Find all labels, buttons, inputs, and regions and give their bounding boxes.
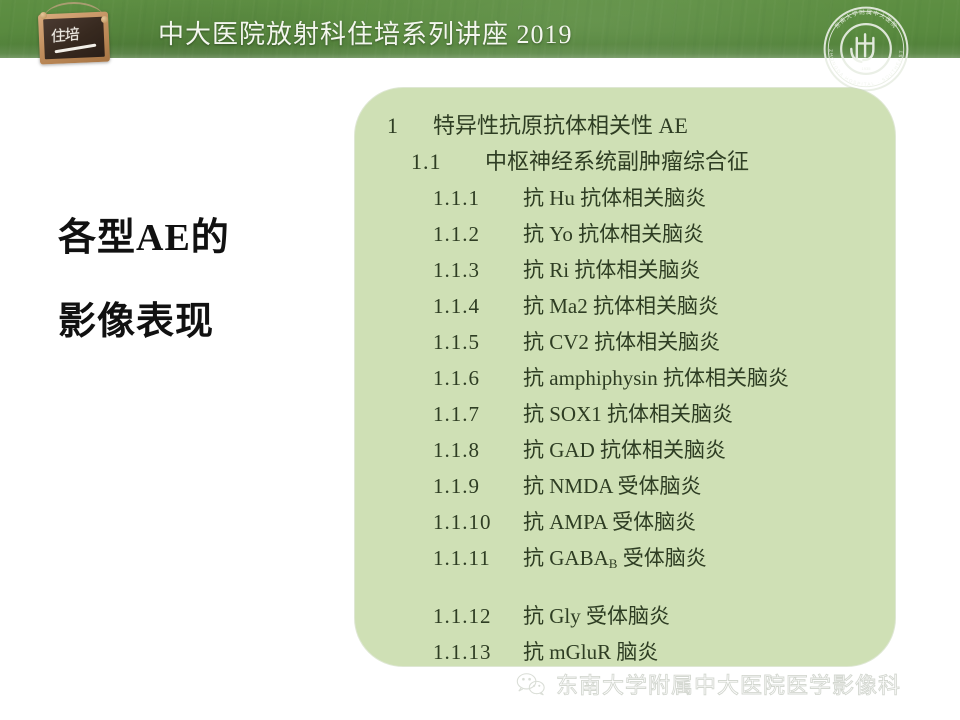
outline-item-label: 抗 Ri 抗体相关脑炎 [523, 252, 700, 288]
outline-item-number: 1.1.9 [433, 468, 523, 504]
outline-item-label: 抗 Yo 抗体相关脑炎 [523, 216, 704, 252]
outline-item: 1.1.9抗 NMDA 受体脑炎 [355, 468, 895, 504]
outline-item: 1特异性抗原抗体相关性 AE [355, 108, 895, 144]
outline-panel: 1特异性抗原抗体相关性 AE1.1中枢神经系统副肿瘤综合征1.1.1抗 Hu 抗… [355, 88, 895, 666]
outline-item: 1.1.8抗 GAD 抗体相关脑炎 [355, 432, 895, 468]
chalkboard-surface: 住培 [43, 17, 105, 60]
outline-item-label: 中枢神经系统副肿瘤综合征 [485, 144, 749, 180]
outline-item-label: 抗 CV2 抗体相关脑炎 [523, 324, 720, 360]
outline-item-label: 抗 GAD 抗体相关脑炎 [523, 432, 726, 468]
outline-item: 1.1.12抗 Gly 受体脑炎 [355, 598, 895, 634]
outline-item-label: 特异性抗原抗体相关性 AE [433, 108, 688, 144]
outline-item: 1.1.4抗 Ma2 抗体相关脑炎 [355, 288, 895, 324]
outline-item: 1.1.13抗 mGluR 脑炎 [355, 634, 895, 666]
chalkboard-frame: 住培 [38, 11, 110, 64]
outline-item-number: 1.1.7 [433, 396, 523, 432]
outline-item-number: 1 [387, 108, 433, 144]
outline-item-label: 抗 Ma2 抗体相关脑炎 [523, 288, 719, 324]
page-title: 各型AE的 影像表现 [58, 196, 338, 364]
outline-item: 1.1.3抗 Ri 抗体相关脑炎 [355, 252, 895, 288]
outline-item-label: 抗 mGluR 脑炎 [523, 634, 658, 666]
chalkboard-nail-right [101, 16, 108, 23]
outline-item-number: 1.1.4 [433, 288, 523, 324]
svg-text:1935: 1935 [862, 66, 872, 71]
outline-item-number: 1.1.5 [433, 324, 523, 360]
outline-item-number: 1.1.3 [433, 252, 523, 288]
outline-item-number: 1.1.10 [433, 504, 523, 540]
outline-item: 1.1.10抗 AMPA 受体脑炎 [355, 504, 895, 540]
outline-item-subscript: B [609, 556, 618, 571]
outline-item-number: 1.1 [411, 144, 485, 180]
watermark-text: 东南大学附属中大医院医学影像科 [556, 668, 901, 700]
outline-item-number: 1.1.13 [433, 634, 523, 666]
outline-item-label: 抗 GABAB 受体脑炎 [523, 540, 707, 582]
outline-item: 1.1.7抗 SOX1 抗体相关脑炎 [355, 396, 895, 432]
slide-canvas: 住培 中大医院放射科住培系列讲座 2019 东南大学附属中大医院 ZHONGDA… [0, 0, 960, 720]
outline-item-label: 抗 Hu 抗体相关脑炎 [523, 180, 706, 216]
chalkboard-script-text: 住培 [51, 23, 79, 47]
outline-item: 1.1.2抗 Yo 抗体相关脑炎 [355, 216, 895, 252]
hospital-seal-logo: 东南大学附属中大医院 ZHONGDA HOSPITAL · SOUTHEAST … [820, 3, 912, 95]
outline-item-number: 1.1.12 [433, 598, 523, 634]
outline-item-number: 1.1.8 [433, 432, 523, 468]
outline-item-number: 1.1.6 [433, 360, 523, 396]
outline-item-number: 1.1.1 [433, 180, 523, 216]
outline-item-number: 1.1.11 [433, 540, 523, 576]
watermark: 东南大学附属中大医院医学影像科 [516, 668, 901, 700]
chalkboard-nail-left [40, 12, 47, 19]
outline-item-number: 1.1.2 [433, 216, 523, 252]
header-title: 中大医院放射科住培系列讲座 2019 [158, 14, 573, 51]
outline-item-label: 抗 Gly 受体脑炎 [523, 598, 670, 634]
outline-item-label: 抗 amphiphysin 抗体相关脑炎 [523, 360, 789, 396]
outline-item: 1.1.5抗 CV2 抗体相关脑炎 [355, 324, 895, 360]
page-title-line-2: 影像表现 [58, 280, 338, 364]
outline-item-label: 抗 AMPA 受体脑炎 [523, 504, 696, 540]
outline-item: 1.1中枢神经系统副肿瘤综合征 [355, 144, 895, 180]
outline-list: 1特异性抗原抗体相关性 AE1.1中枢神经系统副肿瘤综合征1.1.1抗 Hu 抗… [355, 108, 895, 666]
outline-item-label: 抗 SOX1 抗体相关脑炎 [523, 396, 733, 432]
page-title-line-1: 各型AE的 [58, 196, 338, 280]
outline-item: 1.1.6抗 amphiphysin 抗体相关脑炎 [355, 360, 895, 396]
wechat-icon [516, 671, 546, 697]
outline-item-label: 抗 NMDA 受体脑炎 [523, 468, 702, 504]
outline-item: 1.1.1抗 Hu 抗体相关脑炎 [355, 180, 895, 216]
chalkboard-logo: 住培 [27, 5, 122, 67]
outline-item: 1.1.11抗 GABAB 受体脑炎 [355, 540, 895, 582]
